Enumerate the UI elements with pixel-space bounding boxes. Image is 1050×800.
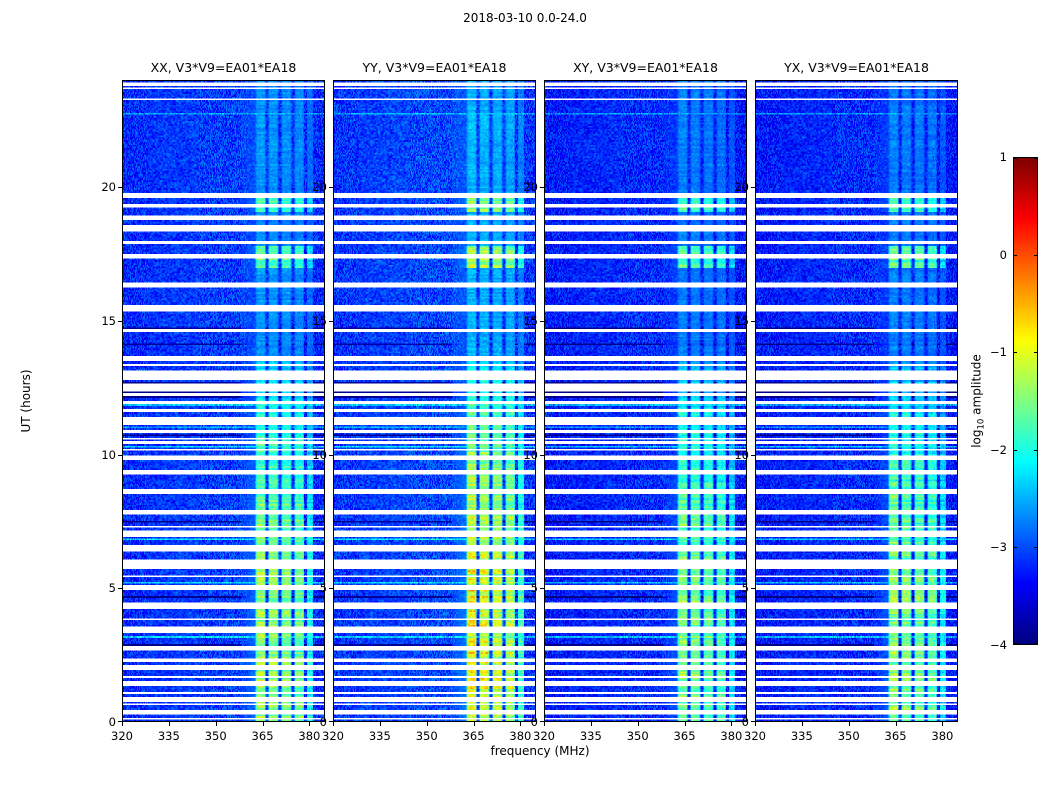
x-tick-label: 365 (885, 729, 907, 743)
colorbar-tick-mark (1013, 547, 1017, 548)
panel-title: YY, V3*V9=EA01*EA18 (333, 60, 536, 80)
colorbar-tick-mark (1034, 158, 1038, 159)
x-tick-mark (216, 722, 217, 726)
x-tick-mark (942, 722, 943, 726)
y-tick-mark (540, 455, 544, 456)
x-tick-mark (333, 722, 334, 726)
y-tick-label: 15 (312, 314, 327, 328)
y-tick-mark (751, 455, 755, 456)
y-tick-label: 10 (101, 448, 116, 462)
x-tick-mark (685, 722, 686, 726)
y-tick-label: 0 (109, 715, 116, 729)
x-tick-mark (896, 722, 897, 726)
colorbar-tick-mark (1013, 450, 1017, 451)
y-tick-label: 10 (312, 448, 327, 462)
y-tick-mark (540, 321, 544, 322)
waterfall-figure: 2018-03-10 0.0-24.0 UT (hours) frequency… (0, 0, 1050, 800)
y-tick-label: 20 (101, 180, 116, 194)
y-tick-label: 0 (742, 715, 749, 729)
x-tick-label: 335 (580, 729, 602, 743)
colorbar-tick-label: 1 (1000, 150, 1007, 164)
x-tick-label: 380 (509, 729, 531, 743)
colorbar-tick-mark (1034, 643, 1038, 644)
x-tick-mark (544, 722, 545, 726)
y-tick-mark (751, 321, 755, 322)
y-tick-mark (540, 588, 544, 589)
y-axis-ticks: 05101520 (715, 80, 755, 722)
colorbar-tick-label: −2 (990, 443, 1007, 457)
x-axis-ticks: 320335350365380 (544, 722, 747, 744)
panel-title: YX, V3*V9=EA01*EA18 (755, 60, 958, 80)
colorbar-label-sub: 10 (977, 419, 987, 430)
y-tick-label: 20 (312, 180, 327, 194)
y-tick-mark (751, 721, 755, 722)
colorbar-tick-label: −1 (990, 345, 1007, 359)
colorbar-tick-mark (1013, 158, 1017, 159)
x-tick-label: 335 (158, 729, 180, 743)
colorbar-tick-mark (1034, 255, 1038, 256)
colorbar: −4−3−2−101 (1013, 157, 1038, 645)
panel-title: XX, V3*V9=EA01*EA18 (122, 60, 325, 80)
x-tick-mark (474, 722, 475, 726)
y-tick-mark (751, 588, 755, 589)
y-tick-mark (118, 187, 122, 188)
x-tick-label: 350 (627, 729, 649, 743)
y-tick-mark (540, 187, 544, 188)
colorbar-label-main: log (969, 429, 983, 447)
x-tick-mark (520, 722, 521, 726)
x-tick-label: 320 (111, 729, 133, 743)
y-tick-label: 5 (742, 581, 749, 595)
y-tick-label: 15 (734, 314, 749, 328)
x-tick-mark (731, 722, 732, 726)
waterfall-image (755, 80, 958, 722)
y-tick-label: 20 (523, 180, 538, 194)
y-tick-mark (540, 721, 544, 722)
x-tick-label: 365 (252, 729, 274, 743)
x-tick-label: 380 (720, 729, 742, 743)
x-tick-mark (591, 722, 592, 726)
y-axis-ticks: 05101520 (504, 80, 544, 722)
colorbar-tick-mark (1013, 255, 1017, 256)
x-tick-label: 380 (931, 729, 953, 743)
x-tick-mark (309, 722, 310, 726)
y-tick-mark (329, 588, 333, 589)
x-tick-mark (380, 722, 381, 726)
x-tick-label: 320 (533, 729, 555, 743)
y-axis-ticks: 05101520 (293, 80, 333, 722)
y-tick-mark (329, 721, 333, 722)
x-tick-mark (122, 722, 123, 726)
x-axis-label: frequency (MHz) (122, 744, 958, 758)
colorbar-tick-mark (1013, 643, 1017, 644)
x-axis-ticks: 320335350365380 (122, 722, 325, 744)
y-tick-mark (751, 187, 755, 188)
colorbar-gradient (1013, 157, 1038, 645)
x-tick-label: 335 (369, 729, 391, 743)
y-tick-mark (329, 187, 333, 188)
x-axis-ticks: 320335350365380 (333, 722, 536, 744)
y-tick-mark (118, 455, 122, 456)
colorbar-tick-label: −4 (990, 638, 1007, 652)
x-tick-label: 350 (838, 729, 860, 743)
y-tick-label: 10 (734, 448, 749, 462)
x-tick-mark (755, 722, 756, 726)
y-tick-label: 15 (101, 314, 116, 328)
panel-title: XY, V3*V9=EA01*EA18 (544, 60, 747, 80)
x-tick-mark (802, 722, 803, 726)
figure-suptitle: 2018-03-10 0.0-24.0 (0, 11, 1050, 25)
x-tick-label: 320 (744, 729, 766, 743)
colorbar-tick-mark (1034, 450, 1038, 451)
colorbar-tick-mark (1034, 352, 1038, 353)
x-tick-label: 365 (463, 729, 485, 743)
y-tick-mark (118, 721, 122, 722)
colorbar-label: log10 amplitude (969, 354, 986, 448)
y-tick-mark (118, 321, 122, 322)
x-axis-ticks: 320335350365380 (755, 722, 958, 744)
colorbar-tick-mark (1013, 352, 1017, 353)
colorbar-label-tail: amplitude (969, 354, 983, 418)
colorbar-tick-mark (1034, 547, 1038, 548)
x-tick-label: 335 (791, 729, 813, 743)
y-tick-label: 5 (531, 581, 538, 595)
x-tick-mark (849, 722, 850, 726)
y-tick-mark (329, 455, 333, 456)
panel-yx: YX, V3*V9=EA01*EA18320335350365380051015… (755, 80, 958, 722)
y-tick-label: 20 (734, 180, 749, 194)
y-tick-label: 0 (320, 715, 327, 729)
x-tick-label: 365 (674, 729, 696, 743)
x-tick-label: 350 (205, 729, 227, 743)
y-axis-label: UT (hours) (19, 369, 33, 432)
y-tick-mark (118, 588, 122, 589)
x-tick-label: 380 (298, 729, 320, 743)
x-tick-label: 350 (416, 729, 438, 743)
x-tick-mark (427, 722, 428, 726)
y-tick-label: 15 (523, 314, 538, 328)
y-tick-label: 0 (531, 715, 538, 729)
y-tick-mark (329, 321, 333, 322)
y-tick-label: 5 (320, 581, 327, 595)
x-tick-label: 320 (322, 729, 344, 743)
y-tick-label: 5 (109, 581, 116, 595)
y-tick-label: 10 (523, 448, 538, 462)
x-tick-mark (169, 722, 170, 726)
colorbar-tick-label: 0 (1000, 248, 1007, 262)
x-tick-mark (638, 722, 639, 726)
x-tick-mark (263, 722, 264, 726)
y-axis-ticks: 05101520 (82, 80, 122, 722)
colorbar-tick-label: −3 (990, 540, 1007, 554)
